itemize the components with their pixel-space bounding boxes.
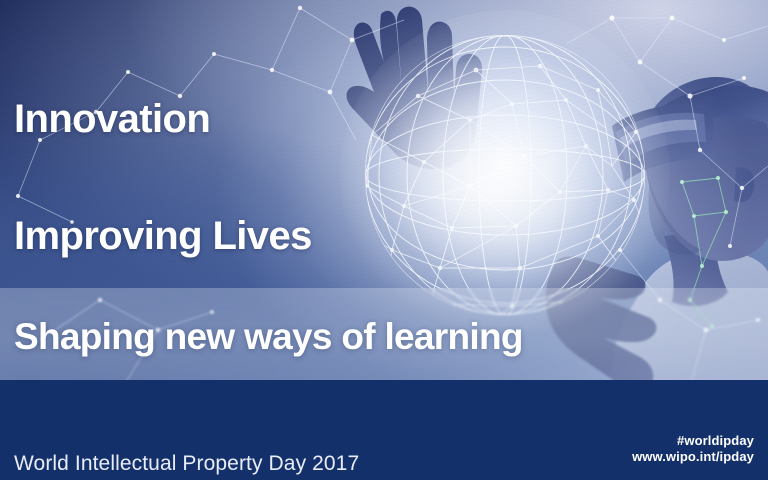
website-link[interactable]: www.wipo.int/ipday	[632, 449, 754, 465]
headline-line-2: Improving Lives	[14, 217, 312, 256]
subheadline: Shaping new ways of learning	[14, 317, 523, 357]
footer-links: #worldipday www.wipo.int/ipday	[632, 433, 754, 465]
event-title-line-1: World Intellectual Property Day 2017	[14, 451, 359, 477]
headline-line-1: Innovation	[14, 100, 312, 139]
page-title: Innovation Improving Lives	[14, 22, 312, 334]
wipo-world-ip-day-2017-poster: Innovation Improving Lives Shaping new w…	[0, 0, 768, 480]
hashtag: #worldipday	[632, 433, 754, 449]
footer-bar: World Intellectual Property Day 2017 Apr…	[0, 380, 768, 480]
event-title: World Intellectual Property Day 2017 Apr…	[14, 399, 359, 480]
